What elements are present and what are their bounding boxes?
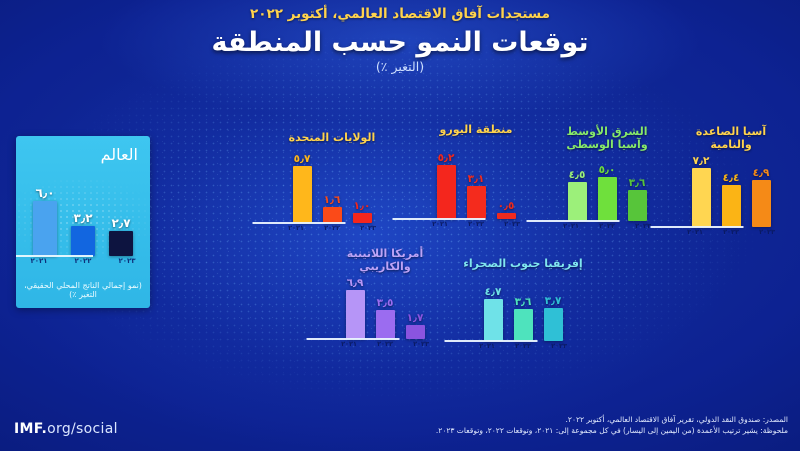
bar-item: ٣٫٦ bbox=[514, 275, 533, 341]
bar-item: ١٫٧ bbox=[406, 277, 425, 339]
bar-series: ٣٫٦٥٫٠٤٫٥ bbox=[548, 155, 666, 221]
bar bbox=[628, 190, 647, 222]
region-group-euro-area: منطقة اليورو٠٫٥٣٫١٥٫٢٢٠٢٣٢٠٢٢٢٠٢١ bbox=[420, 124, 532, 236]
x-axis-tick: ٢٠٢١ bbox=[284, 224, 309, 232]
bar bbox=[484, 299, 503, 340]
x-axis-labels: ٢٠٢٣٢٠٢٢٢٠٢١ bbox=[672, 228, 790, 239]
bar-item: ٤٫٥ bbox=[568, 155, 587, 221]
bar-series: ٣٫٧٣٫٦٤٫٧ bbox=[462, 275, 584, 341]
bar bbox=[71, 226, 95, 256]
x-axis-tick: ٢٠٢٣ bbox=[547, 342, 572, 350]
bar bbox=[323, 207, 342, 223]
bar-item: ٤٫٤ bbox=[722, 155, 741, 227]
bar-item: ٣٫٢ bbox=[71, 186, 95, 256]
region-title-emerging-developing-asia: آسيا الصاعدةوالنامية bbox=[672, 126, 790, 151]
world-panel-title: العالم bbox=[16, 136, 150, 164]
bar-item: ٥٫٢ bbox=[437, 141, 456, 219]
bar-item: ٣٫٧ bbox=[544, 275, 563, 341]
bar-series: ١٫٧٣٫٥٦٫٩ bbox=[324, 277, 446, 339]
bar-series: ١٫٠١٫٦٥٫٧ bbox=[272, 149, 392, 223]
bar-value-label: ٤٫٩ bbox=[753, 167, 770, 179]
imf-logo-rest: org/social bbox=[47, 421, 118, 437]
bar-value-label: ٠٫٥ bbox=[498, 200, 515, 212]
x-axis-tick: ٢٠٢٣ bbox=[409, 340, 434, 348]
header-subtitle: (التغير ٪) bbox=[0, 59, 800, 74]
bar-value-label: ١٫٧ bbox=[407, 312, 424, 324]
bar-value-label: ٧٫٢ bbox=[693, 155, 710, 167]
header-kicker: مستجدات آفاق الاقتصاد العالمي، أكتوبر ٢٠… bbox=[0, 6, 800, 22]
bar-series: ٢٫٧٣٫٢٦٫٠ bbox=[16, 186, 150, 256]
bar-value-label: ٦٫٩ bbox=[347, 277, 364, 289]
bar-chart-sub-saharan-africa: ٣٫٧٣٫٦٤٫٧٢٠٢٣٢٠٢٢٢٠٢١ bbox=[462, 271, 584, 355]
region-title-line: أمريكا اللاتينية bbox=[324, 248, 446, 261]
bar-item: ٧٫٢ bbox=[692, 155, 711, 227]
bar bbox=[752, 180, 771, 227]
bar-value-label: ٢٫٧ bbox=[111, 216, 130, 230]
x-axis-tick: ٢٠٢٢ bbox=[511, 342, 536, 350]
bar bbox=[33, 201, 57, 256]
bar-value-label: ٥٫٧ bbox=[294, 153, 311, 165]
bar-item: ٣٫٥ bbox=[376, 277, 395, 339]
x-axis-tick: ٢٠٢٢ bbox=[464, 220, 489, 228]
bar bbox=[467, 186, 486, 218]
bar-value-label: ٣٫٢ bbox=[73, 211, 92, 225]
bar-value-label: ٣٫٧ bbox=[545, 295, 562, 307]
bar-item: ٥٫٠ bbox=[598, 155, 617, 221]
bar-series: ٠٫٥٣٫١٥٫٢ bbox=[420, 141, 532, 219]
bar-chart-euro-area: ٠٫٥٣٫١٥٫٢٢٠٢٣٢٠٢٢٢٠٢١ bbox=[420, 137, 532, 233]
bar-value-label: ٥٫٠ bbox=[599, 164, 616, 176]
bar-value-label: ٦٫٠ bbox=[35, 186, 54, 200]
x-axis-tick: ٢٠٢٢ bbox=[373, 340, 398, 348]
bar-item: ٤٫٧ bbox=[484, 275, 503, 341]
x-axis-tick: ٢٠٢١ bbox=[559, 222, 584, 230]
infographic-canvas: مستجدات آفاق الاقتصاد العالمي، أكتوبر ٢٠… bbox=[0, 0, 800, 451]
x-axis-tick: ٢٠٢٢ bbox=[595, 222, 620, 230]
header: مستجدات آفاق الاقتصاد العالمي، أكتوبر ٢٠… bbox=[0, 6, 800, 74]
x-axis-tick: ٢٠٢٣ bbox=[112, 257, 142, 265]
region-title-line: والكاريبي bbox=[324, 261, 446, 274]
bar bbox=[376, 310, 395, 339]
bar-item: ١٫٠ bbox=[353, 149, 372, 223]
bar bbox=[109, 231, 133, 256]
bar-chart-middle-east-central-asia: ٣٫٦٥٫٠٤٫٥٢٠٢٣٢٠٢٢٢٠٢١ bbox=[548, 151, 666, 235]
bar bbox=[722, 185, 741, 227]
region-group-sub-saharan-africa: إفريقيا جنوب الصحراء٣٫٧٣٫٦٤٫٧٢٠٢٣٢٠٢٢٢٠٢… bbox=[462, 258, 584, 358]
region-group-latin-america-caribbean: أمريكا اللاتينيةوالكاريبي١٫٧٣٫٥٦٫٩٢٠٢٣٢٠… bbox=[324, 248, 446, 356]
region-title-euro-area: منطقة اليورو bbox=[420, 124, 532, 137]
x-axis-labels: ٢٠٢٣٢٠٢٢٢٠٢١ bbox=[420, 220, 532, 231]
x-axis-labels: ٢٠٢٣٢٠٢٢٢٠٢١ bbox=[324, 340, 446, 351]
bar bbox=[437, 165, 456, 219]
region-group-emerging-developing-asia: آسيا الصاعدةوالنامية٤٫٩٤٫٤٧٫٢٢٠٢٣٢٠٢٢٢٠٢… bbox=[672, 126, 790, 244]
world-panel: العالم ٢٫٧٣٫٢٦٫٠٢٠٢٣٢٠٢٢٢٠٢١ (نمو إجمالي… bbox=[16, 136, 150, 308]
x-axis-tick: ٢٠٢٢ bbox=[320, 224, 345, 232]
bar bbox=[293, 166, 312, 222]
region-title-line: والنامية bbox=[672, 139, 790, 152]
bar-value-label: ٤٫٧ bbox=[485, 286, 502, 298]
region-group-middle-east-central-asia: الشرق الأوسطوآسيا الوسطى٣٫٦٥٫٠٤٫٥٢٠٢٣٢٠٢… bbox=[548, 126, 666, 238]
footnotes: المصدر: صندوق النقد الدولي، تقرير آفاق ا… bbox=[436, 414, 788, 437]
bar-value-label: ٣٫٥ bbox=[377, 297, 394, 309]
region-title-united-states: الولايات المتحدة bbox=[272, 132, 392, 145]
bar-chart-emerging-developing-asia: ٤٫٩٤٫٤٧٫٢٢٠٢٣٢٠٢٢٢٠٢١ bbox=[672, 151, 790, 241]
x-axis-labels: ٢٠٢٣٢٠٢٢٢٠٢١ bbox=[548, 222, 666, 233]
bar-item: ٣٫٦ bbox=[628, 155, 647, 221]
bar bbox=[353, 213, 372, 223]
source-note: المصدر: صندوق النقد الدولي، تقرير آفاق ا… bbox=[436, 414, 788, 426]
world-bar-chart: ٢٫٧٣٫٢٦٫٠٢٠٢٣٢٠٢٢٢٠٢١ bbox=[16, 182, 150, 270]
bar bbox=[568, 182, 587, 222]
imf-logo[interactable]: IMF.org/social bbox=[14, 421, 118, 437]
x-axis-tick: ٢٠٢١ bbox=[337, 340, 362, 348]
bar-item: ٣٫١ bbox=[467, 141, 486, 219]
bar-value-label: ٤٫٥ bbox=[569, 169, 586, 181]
page-title: توقعات النمو حسب المنطقة bbox=[0, 27, 800, 58]
bar-value-label: ٤٫٤ bbox=[723, 172, 740, 184]
bar bbox=[514, 309, 533, 341]
bar bbox=[346, 290, 365, 339]
bar-item: ٥٫٧ bbox=[293, 149, 312, 223]
x-axis-tick: ٢٠٢٢ bbox=[719, 228, 744, 236]
bar-item: ٦٫٩ bbox=[346, 277, 365, 339]
bar bbox=[692, 168, 711, 227]
bar-item: ٢٫٧ bbox=[109, 186, 133, 256]
x-axis-tick: ٢٠٢١ bbox=[683, 228, 708, 236]
world-panel-caption: (نمو إجمالي الناتج المحلي الحقيقي، التغي… bbox=[16, 281, 150, 299]
bar bbox=[544, 308, 563, 341]
region-group-united-states: الولايات المتحدة١٫٠١٫٦٥٫٧٢٠٢٣٢٠٢٢٢٠٢١ bbox=[272, 132, 392, 240]
bar-item: ١٫٦ bbox=[323, 149, 342, 223]
x-axis-tick: ٢٠٢٣ bbox=[500, 220, 525, 228]
bar-value-label: ١٫٠ bbox=[354, 200, 371, 212]
x-axis-labels: ٢٠٢٣٢٠٢٢٢٠٢١ bbox=[16, 257, 150, 268]
x-axis-labels: ٢٠٢٣٢٠٢٢٢٠٢١ bbox=[272, 224, 392, 235]
bar bbox=[497, 213, 516, 218]
bar-value-label: ١٫٦ bbox=[324, 194, 341, 206]
ordering-note: ملحوظة: يشير ترتيب الأعمدة (من اليمين إل… bbox=[436, 425, 788, 437]
x-axis-tick: ٢٠٢١ bbox=[24, 257, 54, 265]
region-title-line: وآسيا الوسطى bbox=[548, 139, 666, 152]
bar bbox=[598, 177, 617, 221]
bar-chart-united-states: ١٫٠١٫٦٥٫٧٢٠٢٣٢٠٢٢٢٠٢١ bbox=[272, 145, 392, 237]
region-title-sub-saharan-africa: إفريقيا جنوب الصحراء bbox=[462, 258, 584, 271]
region-title-latin-america-caribbean: أمريكا اللاتينيةوالكاريبي bbox=[324, 248, 446, 273]
bar-item: ٦٫٠ bbox=[33, 186, 57, 256]
x-axis-tick: ٢٠٢٣ bbox=[356, 224, 381, 232]
x-axis-tick: ٢٠٢٢ bbox=[68, 257, 98, 265]
x-axis-tick: ٢٠٢١ bbox=[475, 342, 500, 350]
x-axis-tick: ٢٠٢٣ bbox=[755, 228, 780, 236]
bar-series: ٤٫٩٤٫٤٧٫٢ bbox=[672, 155, 790, 227]
region-title-middle-east-central-asia: الشرق الأوسطوآسيا الوسطى bbox=[548, 126, 666, 151]
bar-item: ٤٫٩ bbox=[752, 155, 771, 227]
bar-chart-latin-america-caribbean: ١٫٧٣٫٥٦٫٩٢٠٢٣٢٠٢٢٢٠٢١ bbox=[324, 273, 446, 353]
x-axis-tick: ٢٠٢١ bbox=[428, 220, 453, 228]
imf-logo-bold: IMF. bbox=[14, 421, 47, 437]
bar-value-label: ٣٫١ bbox=[468, 173, 485, 185]
bar bbox=[406, 325, 425, 339]
x-axis-labels: ٢٠٢٣٢٠٢٢٢٠٢١ bbox=[462, 342, 584, 353]
bar-value-label: ٣٫٦ bbox=[629, 177, 646, 189]
region-title-line: آسيا الصاعدة bbox=[672, 126, 790, 139]
region-title-line: الشرق الأوسط bbox=[548, 126, 666, 139]
bar-value-label: ٥٫٢ bbox=[438, 152, 455, 164]
bar-item: ٠٫٥ bbox=[497, 141, 516, 219]
bar-value-label: ٣٫٦ bbox=[515, 296, 532, 308]
